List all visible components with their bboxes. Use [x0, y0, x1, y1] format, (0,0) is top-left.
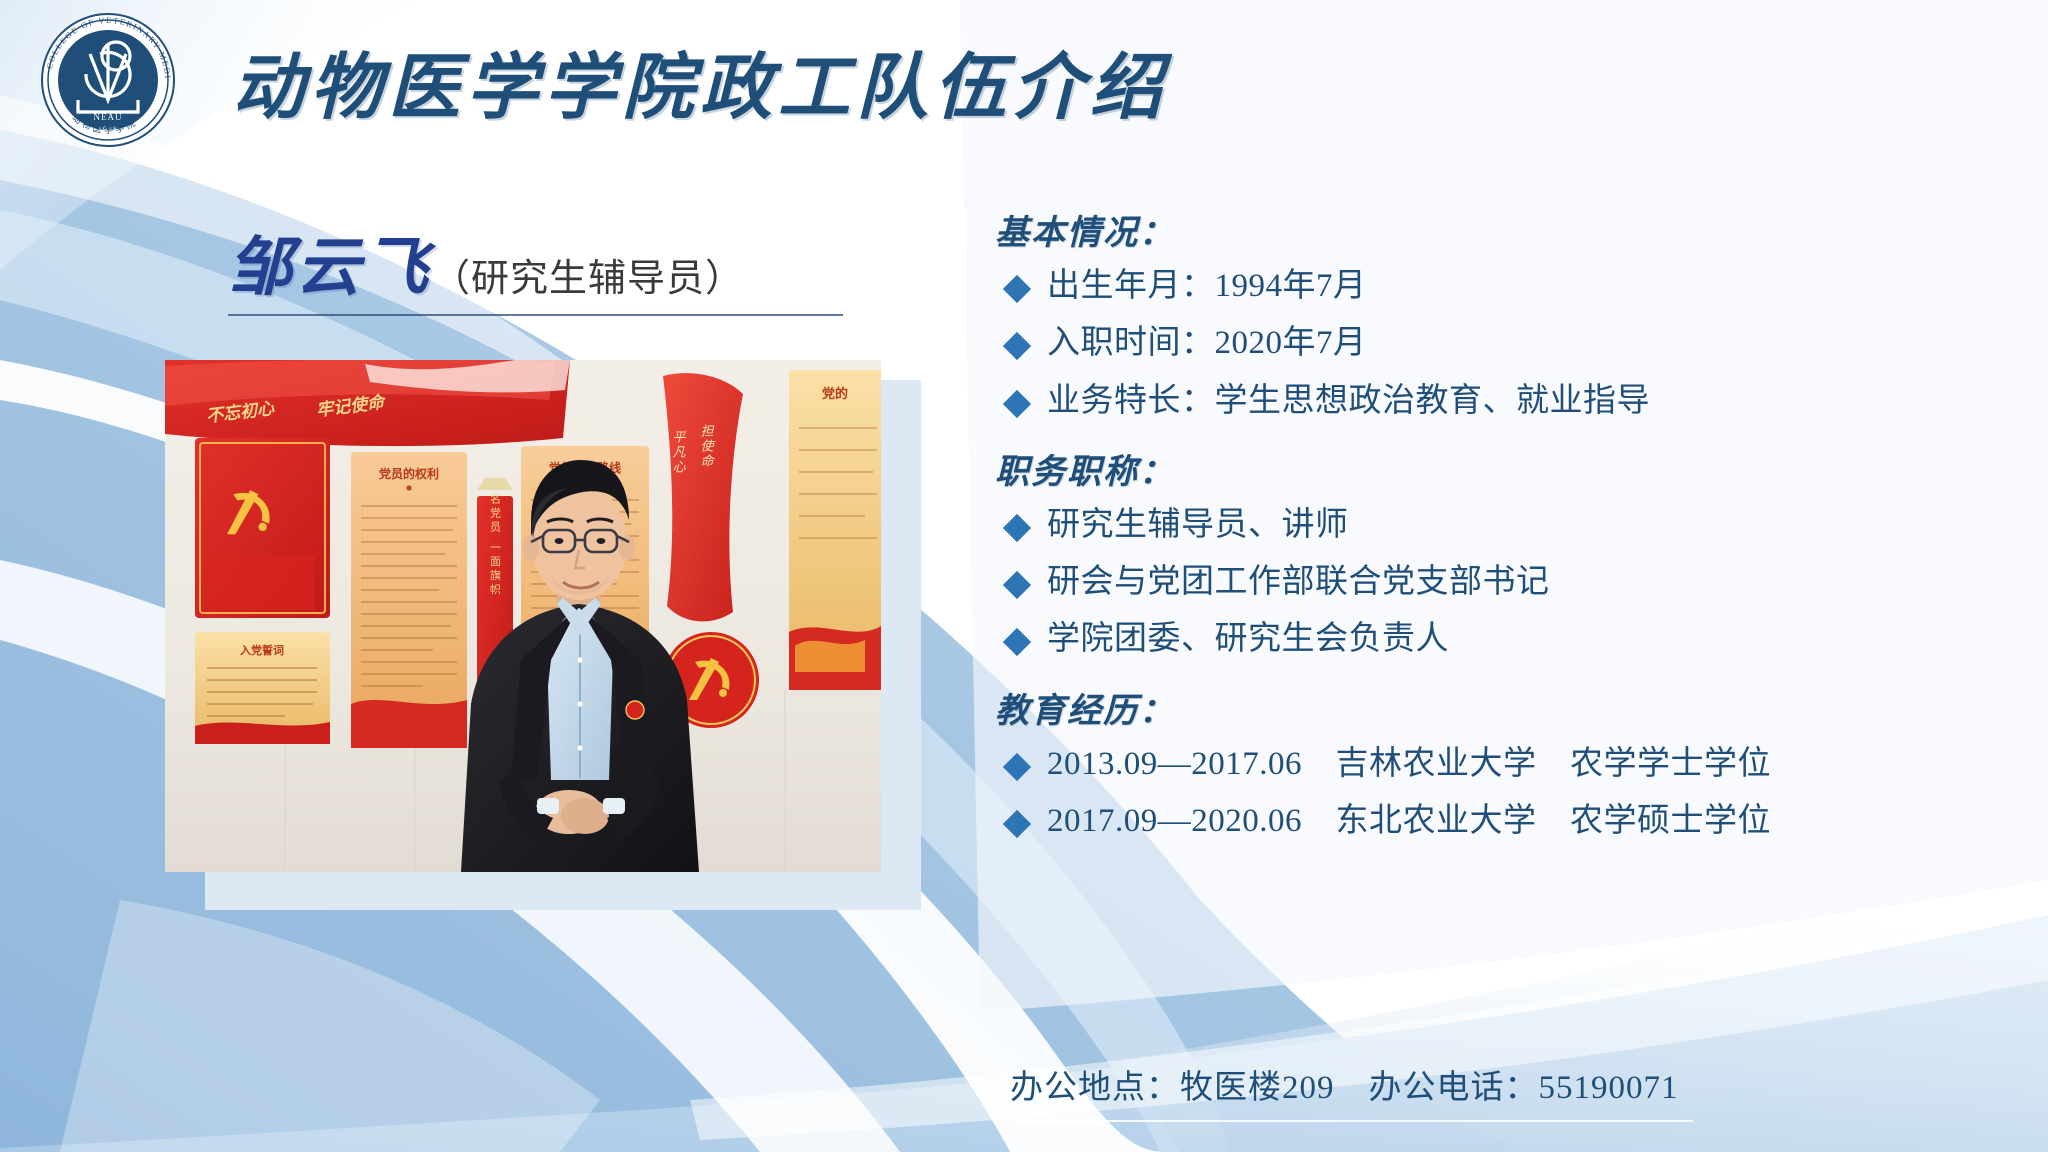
profile-content: 基本情况： 出生年月：1994年7月 入职时间：2020年7月 业务特长：学生思… — [995, 205, 2005, 864]
diamond-bullet-icon — [1003, 275, 1031, 303]
person-name-block: 邹云飞（研究生辅导员） — [228, 216, 848, 316]
diamond-bullet-icon — [1003, 332, 1031, 360]
person-role: （研究生辅导员） — [432, 247, 744, 308]
section-title: 基本情况： — [995, 205, 2005, 254]
office-contact-text: 办公地点：牧医楼209 办公电话：55190071 — [1010, 1060, 1710, 1108]
section-basic-info: 基本情况： 出生年月：1994年7月 入职时间：2020年7月 业务特长：学生思… — [995, 205, 2005, 422]
list-item: 出生年月：1994年7月 — [1007, 266, 2005, 307]
list-item-label: 研会与党团工作部联合党支部书记 — [1047, 562, 1550, 603]
list-item: 2017.09—2020.06 东北农业大学 农学硕士学位 — [1007, 801, 2005, 842]
svg-text:党员的权利: 党员的权利 — [379, 466, 439, 481]
slide-footer: 办公地点：牧医楼209 办公电话：55190071 — [1010, 1060, 1710, 1122]
college-logo-icon: NEAU -1948- COLLEGE OF VETERINARY MEDICI… — [38, 8, 178, 153]
slide-root: NEAU -1948- COLLEGE OF VETERINARY MEDICI… — [0, 0, 2048, 1152]
list-item: 2013.09—2017.06 吉林农业大学 农学学士学位 — [1007, 744, 2005, 785]
footer-divider — [1010, 1120, 1693, 1122]
list-item-label: 2017.09—2020.06 东北农业大学 农学硕士学位 — [1047, 801, 1771, 842]
person-photo: 不忘初心 牢记使命 入党誓词 — [165, 360, 881, 872]
list-item-label: 入职时间：2020年7月 — [1047, 323, 1367, 364]
svg-text:担使命: 担使命 — [698, 424, 714, 469]
svg-text:一名党员 一面旗帜: 一名党员 一面旗帜 — [489, 479, 502, 598]
person-photo-container: 不忘初心 牢记使命 入党誓词 — [165, 360, 881, 890]
diamond-bullet-icon — [1003, 571, 1031, 599]
name-divider — [228, 314, 843, 316]
list-item: 研会与党团工作部联合党支部书记 — [1007, 562, 2005, 603]
svg-text:平凡心: 平凡心 — [670, 430, 686, 475]
list-item: 学院团委、研究生会负责人 — [1007, 619, 2005, 660]
list-item: 入职时间：2020年7月 — [1007, 323, 2005, 364]
section-title: 教育经历： — [995, 683, 2005, 732]
list-item: 研究生辅导员、讲师 — [1007, 505, 2005, 546]
list-item-label: 2013.09—2017.06 吉林农业大学 农学学士学位 — [1047, 744, 1771, 785]
section-position-title: 职务职称： 研究生辅导员、讲师 研会与党团工作部联合党支部书记 学院团委、研究生… — [995, 444, 2005, 661]
diamond-bullet-icon — [1003, 514, 1031, 542]
list-item-label: 学院团委、研究生会负责人 — [1047, 619, 1449, 660]
diamond-bullet-icon — [1003, 389, 1031, 417]
diamond-bullet-icon — [1003, 628, 1031, 656]
page-title: 动物医学学院政工队伍介绍 — [232, 28, 1168, 133]
list-item-label: 业务特长：学生思想政治教育、就业指导 — [1047, 381, 1650, 422]
slide-header: NEAU -1948- COLLEGE OF VETERINARY MEDICI… — [0, 0, 2048, 165]
person-name: 邹云飞 — [228, 216, 432, 308]
svg-text:党的: 党的 — [822, 386, 848, 402]
section-education: 教育经历： 2013.09—2017.06 吉林农业大学 农学学士学位 2017… — [995, 683, 2005, 843]
diamond-bullet-icon — [1003, 810, 1031, 838]
svg-text:NEAU: NEAU — [94, 112, 123, 122]
list-item-label: 出生年月：1994年7月 — [1047, 266, 1367, 307]
list-item-label: 研究生辅导员、讲师 — [1047, 505, 1349, 546]
diamond-bullet-icon — [1003, 752, 1031, 780]
svg-text:入党誓词: 入党誓词 — [240, 643, 284, 657]
section-title: 职务职称： — [995, 444, 2005, 493]
list-item: 业务特长：学生思想政治教育、就业指导 — [1007, 381, 2005, 422]
